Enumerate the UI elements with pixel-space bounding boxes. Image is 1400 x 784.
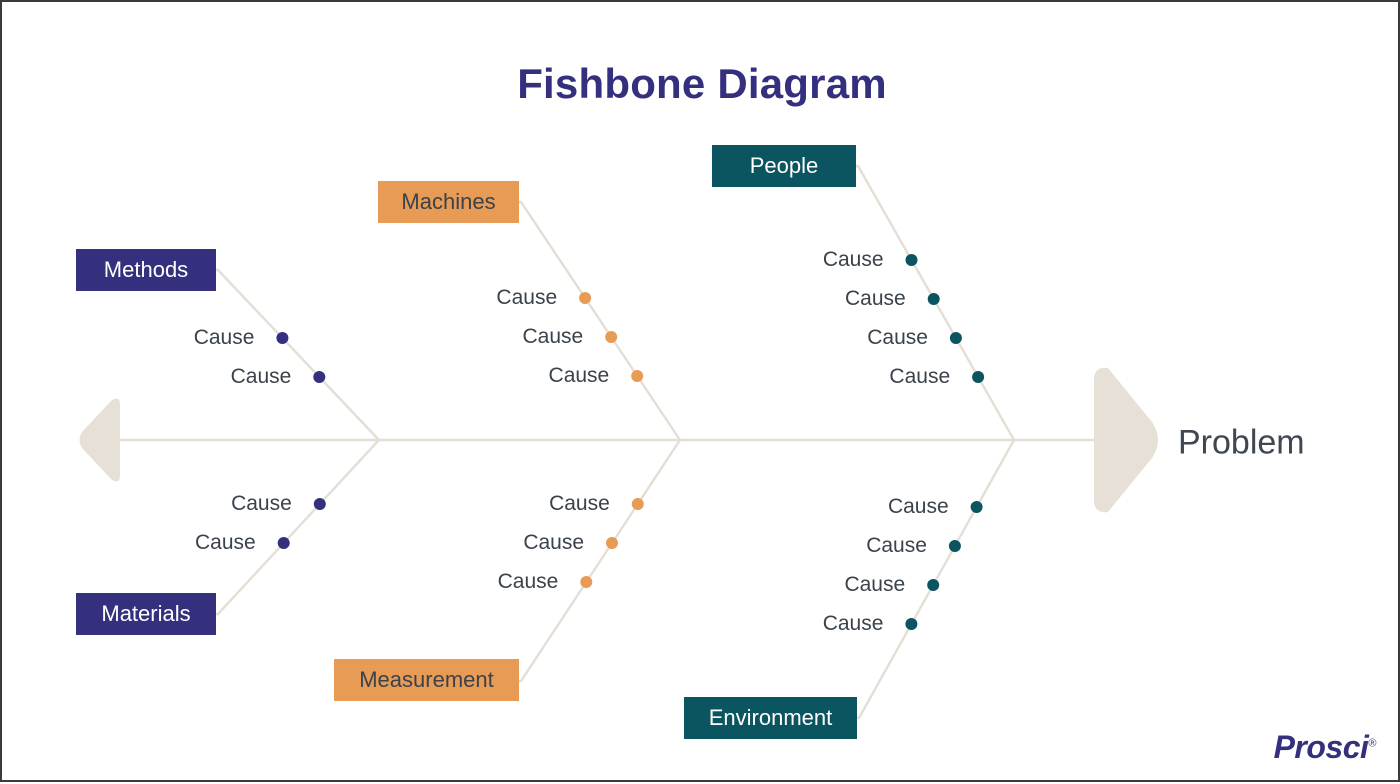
trademark-symbol: ® [1368,737,1376,749]
cause-dot[interactable] [313,371,325,383]
category-label-text: Machines [401,189,495,215]
category-label-text: Materials [101,601,190,627]
fish-head-shape [1094,368,1158,513]
prosci-logo: Prosci® [1274,729,1376,766]
cause-label: Cause [523,531,584,555]
cause-dot[interactable] [927,579,939,591]
cause-label: Cause [845,287,906,311]
category-label-text: Environment [709,705,833,731]
cause-dot[interactable] [972,371,984,383]
cause-label: Cause [549,492,610,516]
cause-dot[interactable] [606,537,618,549]
cause-dot[interactable] [314,498,326,510]
cause-dot[interactable] [950,332,962,344]
category-label-machines[interactable]: Machines [378,181,519,223]
cause-label: Cause [194,326,255,350]
cause-dot[interactable] [971,501,983,513]
category-label-materials[interactable]: Materials [76,593,216,635]
cause-dot[interactable] [579,292,591,304]
cause-label: Cause [195,531,256,555]
category-label-environment[interactable]: Environment [684,697,857,739]
category-label-text: People [750,153,819,179]
fish-tail-shape [80,399,121,482]
problem-label: Problem [1178,424,1305,463]
cause-label: Cause [498,570,559,594]
cause-label: Cause [888,495,949,519]
cause-label: Cause [823,612,884,636]
cause-dot[interactable] [605,331,617,343]
cause-dot[interactable] [632,498,644,510]
cause-dot[interactable] [580,576,592,588]
bone-methods [216,270,379,440]
logo-text: Prosci [1274,729,1369,765]
cause-dot[interactable] [278,537,290,549]
bone-measurement [519,440,680,681]
cause-label: Cause [496,286,557,310]
cause-dot[interactable] [905,618,917,630]
cause-dot[interactable] [928,293,940,305]
cause-label: Cause [522,325,583,349]
fishbone-svg [2,2,1400,784]
category-label-measurement[interactable]: Measurement [334,659,519,701]
bone-lines-group [216,166,1014,718]
cause-label: Cause [231,492,292,516]
cause-dot[interactable] [906,254,918,266]
cause-dot[interactable] [631,370,643,382]
bone-materials [216,440,379,614]
cause-dot[interactable] [276,332,288,344]
category-label-methods[interactable]: Methods [76,249,216,291]
category-label-people[interactable]: People [712,145,856,187]
category-label-text: Measurement [359,667,494,693]
category-label-text: Methods [104,257,188,283]
cause-label: Cause [867,326,928,350]
cause-label: Cause [844,573,905,597]
cause-label: Cause [549,364,610,388]
cause-label: Cause [823,248,884,272]
cause-dot[interactable] [949,540,961,552]
fishbone-diagram-canvas: Fishbone Diagram Methods Machines People… [0,0,1400,782]
cause-label: Cause [889,365,950,389]
cause-label: Cause [866,534,927,558]
cause-label: Cause [231,365,292,389]
bone-machines [519,202,680,440]
